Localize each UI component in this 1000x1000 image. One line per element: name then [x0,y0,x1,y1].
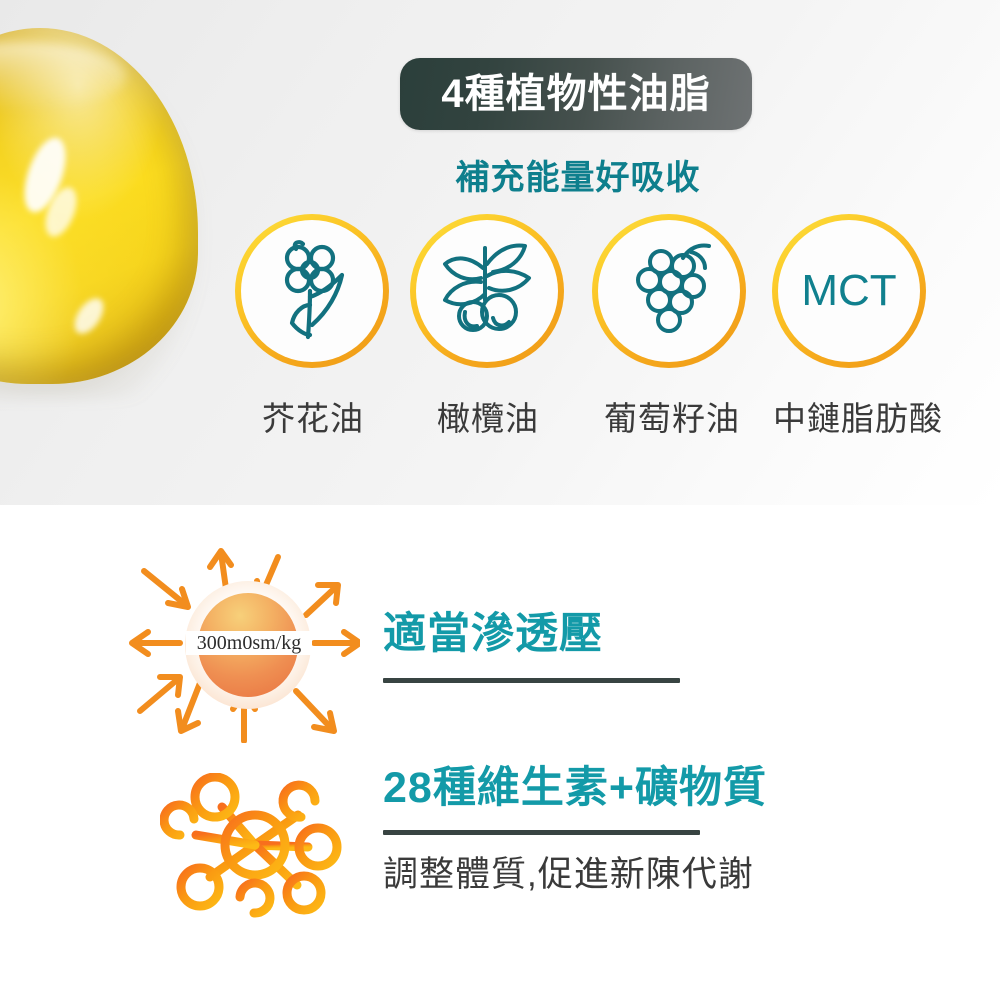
vegetable-oils-section: 4種植物性油脂 補充能量好吸收 [0,0,1000,505]
section-subtitle-text: 補充能量好吸收 [456,159,701,197]
oil-ring-olive [410,214,564,368]
feature-title: 28種維生素+礦物質 [383,767,767,810]
feature-osmotic-pressure: 適當滲透壓 [383,613,680,683]
feature-vitamins-minerals: 28種維生素+礦物質 調整體質,促進新陳代謝 [383,767,767,892]
oil-label-canola: 芥花油 [235,392,391,440]
canola-flower-icon [241,220,383,362]
oil-item-mct: MCT [772,214,928,368]
section-subtitle: 補充能量好吸收 [0,150,1000,199]
feature-subtitle: 調整體質,促進新陳代謝 [383,857,767,892]
oil-ring-mct: MCT [772,214,926,368]
oil-label-olive: 橄欖油 [410,392,566,440]
oil-ring-grape [592,214,746,368]
section-badge: 4種植物性油脂 [400,58,752,130]
grape-bunch-icon [598,220,740,362]
section-badge-label: 4種植物性油脂 [441,74,710,114]
oil-label-row: 芥花油 橄欖油 葡萄籽油 中鏈脂肪酸 [0,392,1000,436]
feature-title: 適當滲透壓 [383,613,680,656]
oil-item-grape [592,214,748,368]
features-section: 300m0sm/kg 適當滲透壓 [0,505,1000,1000]
oil-icon-row: MCT [232,214,944,374]
oil-item-olive [410,214,566,368]
feature-divider [383,678,680,683]
feature-divider [383,830,700,835]
osmotic-cell-icon: 300m0sm/kg [128,543,360,743]
oil-item-canola [235,214,391,368]
oil-droplet-image [0,28,212,400]
molecule-network-icon [160,773,350,923]
mct-text-icon: MCT [778,220,920,362]
osmolality-value: 300m0sm/kg [168,631,330,655]
mct-label: MCT [801,266,896,316]
olive-branch-icon [416,220,558,362]
product-infographic: 4種植物性油脂 補充能量好吸收 [0,0,1000,1000]
oil-ring-canola [235,214,389,368]
oil-label-mct: 中鏈脂肪酸 [760,392,956,440]
oil-label-grape: 葡萄籽油 [583,392,761,440]
